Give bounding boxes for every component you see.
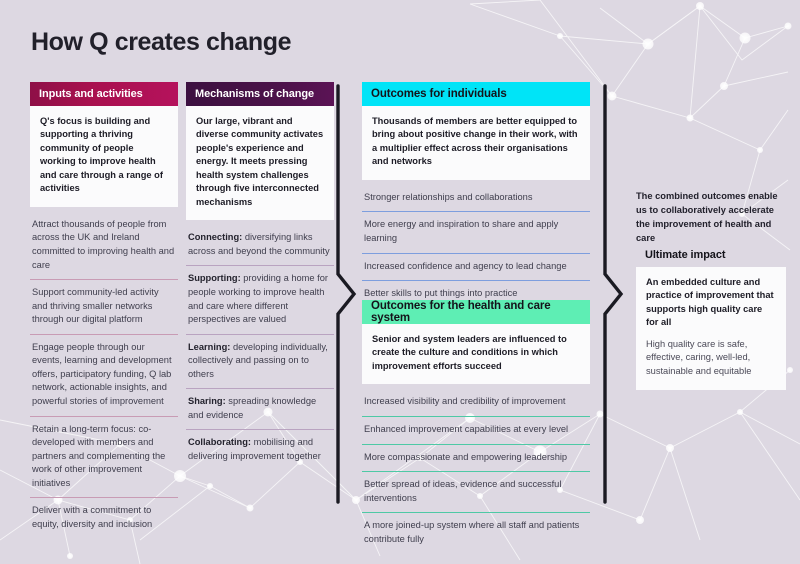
list-item: Increased visibility and credibility of … <box>362 395 590 416</box>
flow-arrow-activities-to-outcomes <box>333 84 359 504</box>
list-item-lead: Supporting: <box>188 273 241 283</box>
column-inputs-and-activities: Inputs and activities Q's focus is build… <box>30 82 178 539</box>
list-item: Connecting: diversifying links across an… <box>186 231 334 265</box>
list-item: Support community-led activity and thriv… <box>30 279 178 334</box>
header-mechanisms-of-change: Mechanisms of change <box>186 82 334 106</box>
header-inputs-and-activities: Inputs and activities <box>30 82 178 106</box>
column-ultimate-impact: Ultimate impact An embedded culture and … <box>636 243 786 390</box>
subtext-ultimate-impact: High quality care is safe, effective, ca… <box>636 338 786 390</box>
column-mechanisms-of-change: Mechanisms of change Our large, vibrant … <box>186 82 334 471</box>
list-item: A more joined-up system where all staff … <box>362 512 590 553</box>
flow-arrow-outcomes-to-impact <box>600 84 626 504</box>
list-item: Increased confidence and agency to lead … <box>362 253 590 281</box>
list-item: Sharing: spreading knowledge and evidenc… <box>186 388 334 429</box>
intro-mechanisms-of-change: Our large, vibrant and diverse community… <box>186 106 334 220</box>
list-inputs-and-activities: Attract thousands of people from across … <box>30 218 178 539</box>
list-item: Engage people through our events, learni… <box>30 334 178 416</box>
column-outcomes-for-system: Outcomes for the health and care system … <box>362 300 590 553</box>
body-ultimate-impact: An embedded culture and practice of impr… <box>636 267 786 338</box>
list-item: More compassionate and empowering leader… <box>362 444 590 472</box>
list-item: Enhanced improvement capabilities at eve… <box>362 416 590 444</box>
list-item: More energy and inspiration to share and… <box>362 211 590 252</box>
list-item: Supporting: providing a home for people … <box>186 265 334 333</box>
header-outcomes-for-system: Outcomes for the health and care system <box>362 300 590 324</box>
list-item: Collaborating: mobilising and delivering… <box>186 429 334 470</box>
list-outcomes-for-system: Increased visibility and credibility of … <box>362 395 590 553</box>
list-item: Retain a long-term focus: co-developed w… <box>30 416 178 498</box>
combined-outcomes-summary: The combined outcomes enable us to colla… <box>636 190 788 246</box>
infographic-canvas: How Q creates change Inputs and activiti… <box>0 0 800 564</box>
list-item: Learning: developing individually, colle… <box>186 334 334 389</box>
list-item-lead: Sharing: <box>188 396 226 406</box>
list-item-lead: Collaborating: <box>188 437 251 447</box>
header-outcomes-for-individuals: Outcomes for individuals <box>362 82 590 106</box>
list-item: Attract thousands of people from across … <box>30 218 178 279</box>
list-item: Deliver with a commitment to equity, div… <box>30 497 178 538</box>
list-item: Stronger relationships and collaboration… <box>362 191 590 212</box>
header-ultimate-impact: Ultimate impact <box>636 243 786 267</box>
list-item-lead: Learning: <box>188 342 230 352</box>
page-title: How Q creates change <box>31 28 291 57</box>
list-item-lead: Connecting: <box>188 232 242 242</box>
list-item: Better spread of ideas, evidence and suc… <box>362 471 590 512</box>
intro-outcomes-for-system: Senior and system leaders are influenced… <box>362 324 590 384</box>
intro-outcomes-for-individuals: Thousands of members are better equipped… <box>362 106 590 180</box>
column-outcomes-for-individuals: Outcomes for individuals Thousands of me… <box>362 82 590 335</box>
list-mechanisms-of-change: Connecting: diversifying links across an… <box>186 231 334 470</box>
intro-inputs-and-activities: Q's focus is building and supporting a t… <box>30 106 178 207</box>
